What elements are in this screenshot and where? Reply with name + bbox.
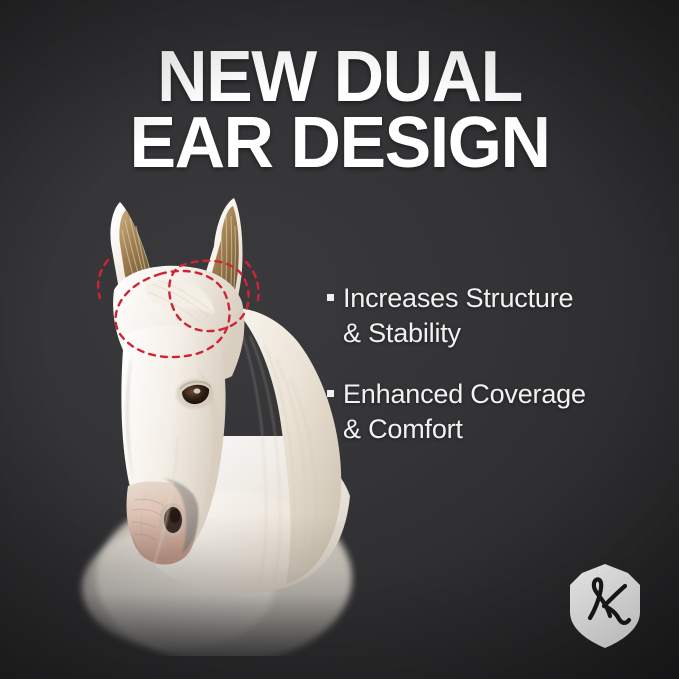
feature-item: Enhanced Coverage & Comfort [327, 377, 649, 447]
square-bullet-icon [327, 390, 334, 397]
feature-text: Increases Structure & Stability [343, 281, 573, 351]
square-bullet-icon [327, 294, 334, 301]
headline: NEW DUAL EAR DESIGN [10, 44, 669, 176]
feature-item: Increases Structure & Stability [327, 281, 649, 351]
feature-text: Enhanced Coverage & Comfort [343, 377, 586, 447]
promo-image: NEW DUAL EAR DESIGN Increases Structure … [0, 0, 679, 679]
feature-list: Increases Structure & Stability Enhanced… [327, 281, 649, 447]
brand-logo [566, 562, 644, 650]
horse-photo [28, 186, 358, 656]
